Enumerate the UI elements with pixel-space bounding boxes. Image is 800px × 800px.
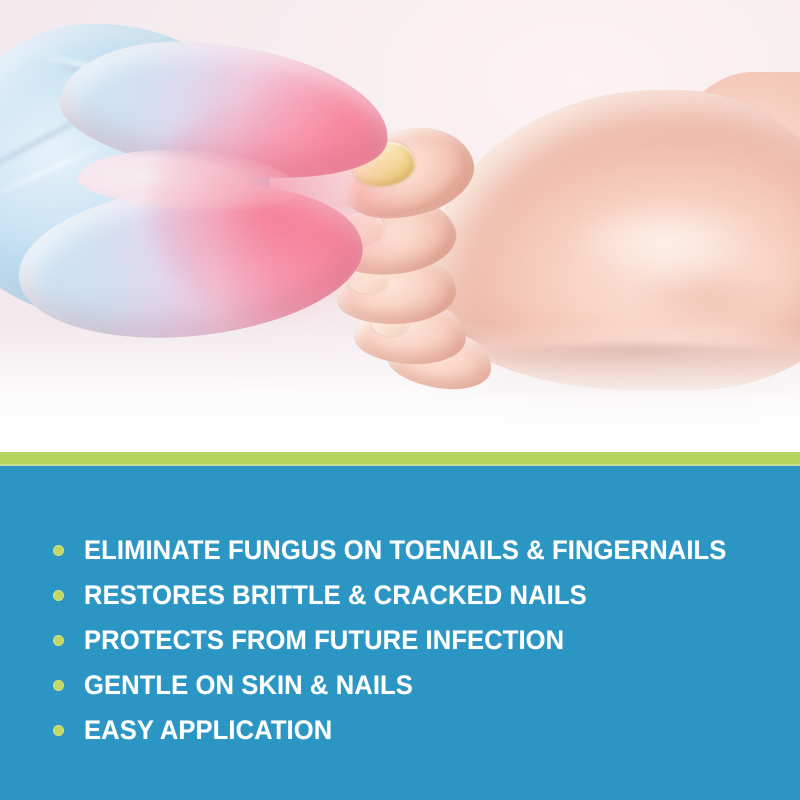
benefit-label: GENTLE ON SKIN & NAILS — [84, 672, 413, 699]
bullet-icon — [53, 590, 64, 601]
bullet-icon — [53, 545, 64, 556]
benefit-label: RESTORES BRITTLE & CRACKED NAILS — [84, 582, 587, 609]
foot-shadow — [630, 268, 780, 328]
product-photo — [0, 0, 800, 452]
bullet-icon — [53, 680, 64, 691]
infographic-page: ELIMINATE FUNGUS ON TOENAILS & FINGERNAI… — [0, 0, 800, 800]
bullet-icon — [53, 635, 64, 646]
benefit-label: PROTECTS FROM FUTURE INFECTION — [84, 627, 564, 654]
benefit-item-2: RESTORES BRITTLE & CRACKED NAILS — [0, 573, 800, 618]
benefit-item-1: ELIMINATE FUNGUS ON TOENAILS & FINGERNAI… — [0, 528, 800, 573]
green-divider — [0, 452, 800, 466]
benefits-panel: ELIMINATE FUNGUS ON TOENAILS & FINGERNAI… — [0, 466, 800, 800]
benefit-label: ELIMINATE FUNGUS ON TOENAILS & FINGERNAI… — [84, 537, 726, 564]
benefit-item-4: GENTLE ON SKIN & NAILS — [0, 663, 800, 708]
benefit-item-3: PROTECTS FROM FUTURE INFECTION — [0, 618, 800, 663]
green-divider-band — [0, 452, 800, 464]
benefit-label: EASY APPLICATION — [84, 717, 332, 744]
bullet-icon — [53, 725, 64, 736]
benefit-item-5: EASY APPLICATION — [0, 708, 800, 753]
